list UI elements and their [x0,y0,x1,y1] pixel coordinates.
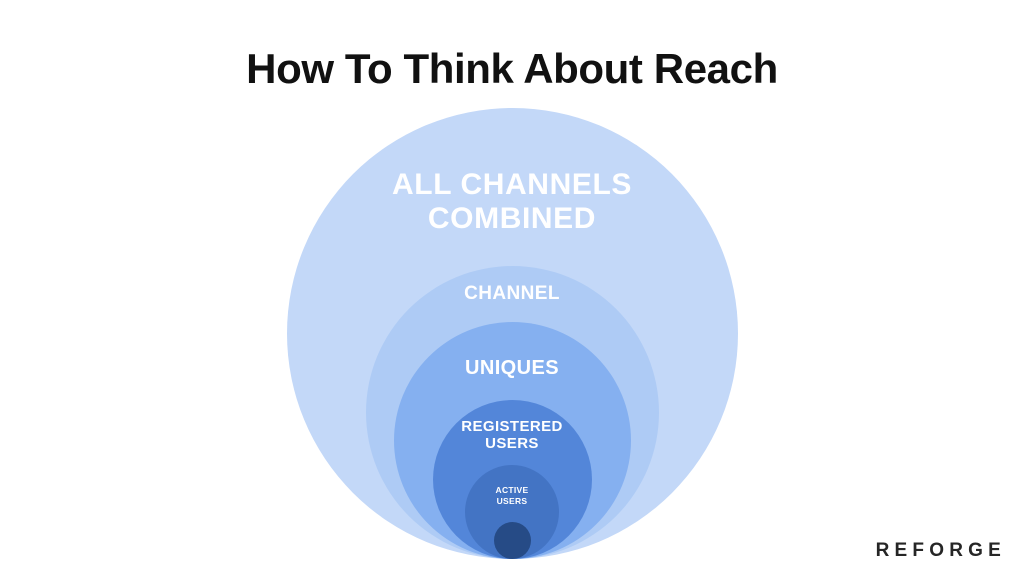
reach-diagram: ALL CHANNELS COMBINED CHANNEL UNIQUES RE… [0,0,1024,576]
reforge-brand-logo: REFORGE [876,540,1006,562]
circle-core[interactable] [494,522,531,559]
slide-canvas: How To Think About Reach ALL CHANNELS CO… [0,0,1024,576]
